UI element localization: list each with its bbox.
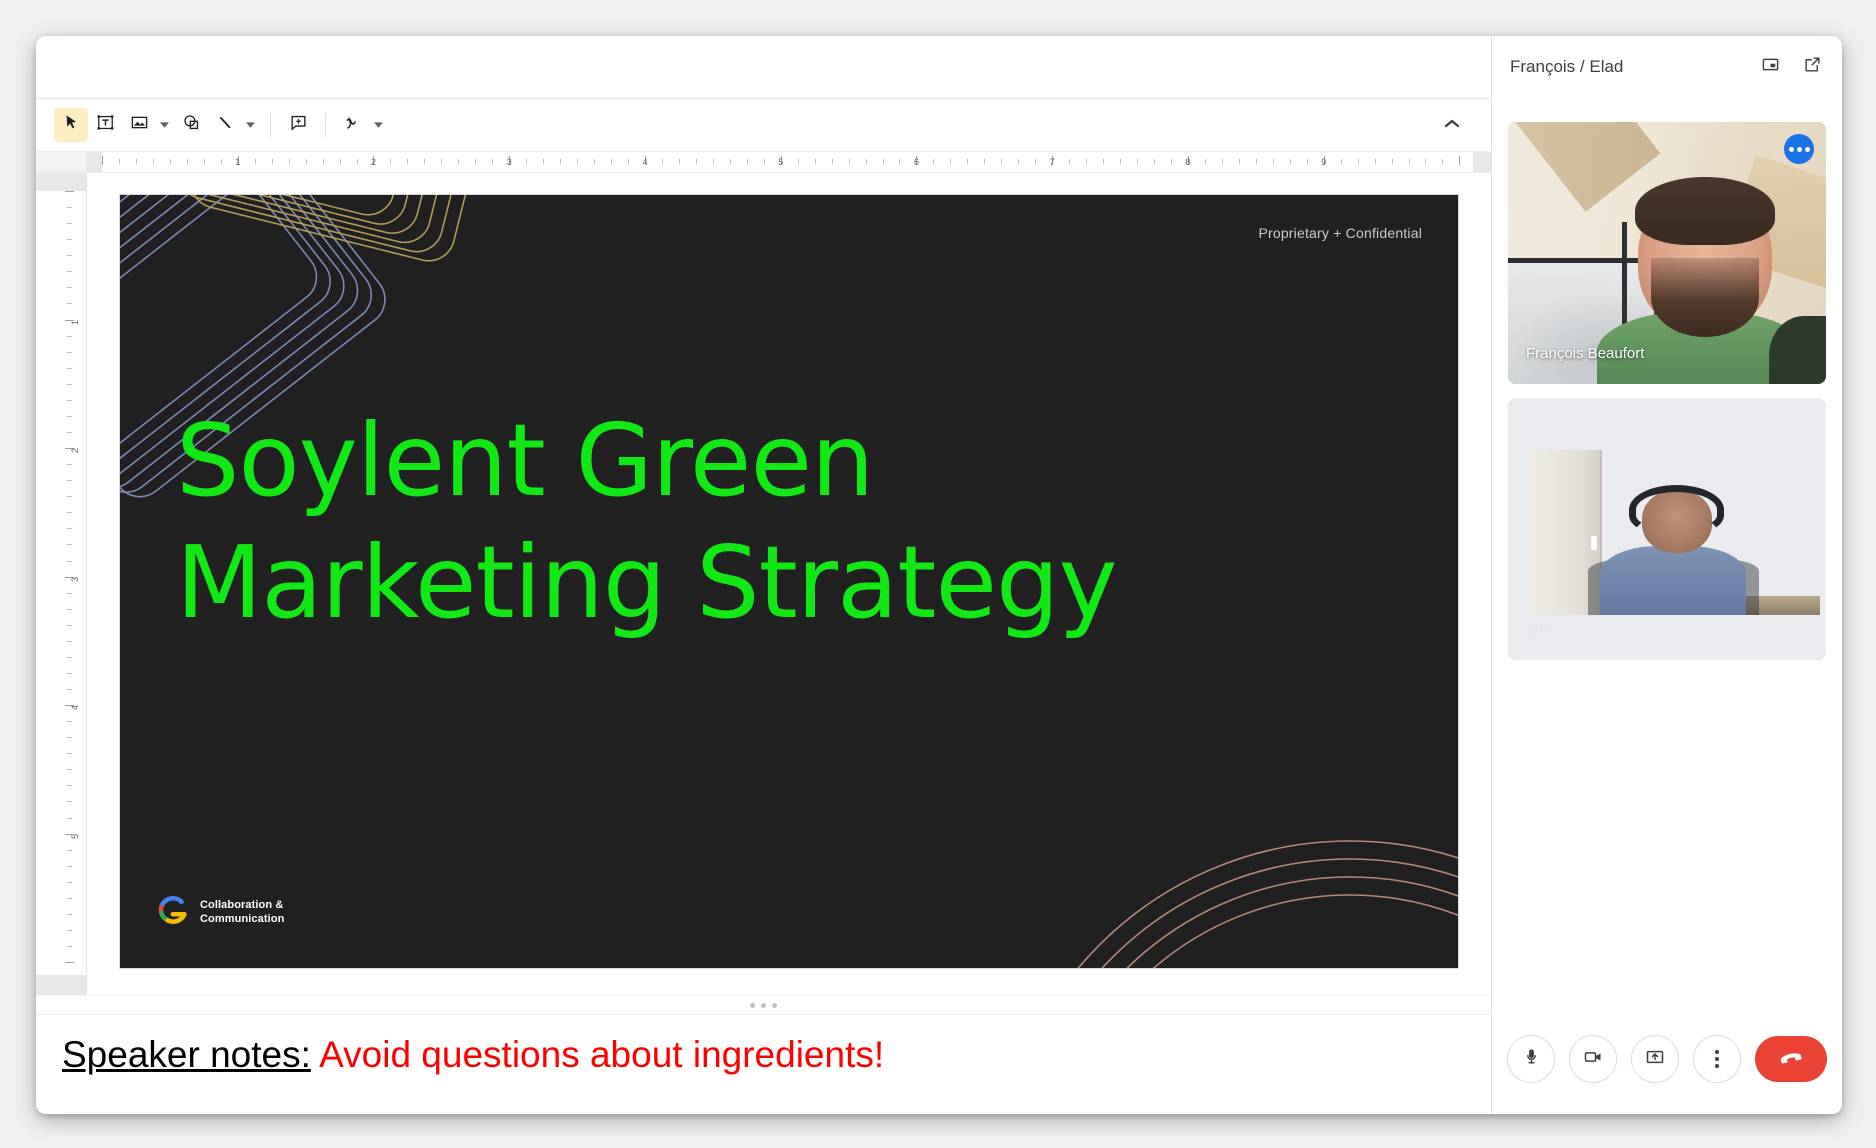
splitter-dot [761,1003,766,1008]
canvas-row: 12345 [36,173,1491,995]
ruler-tick [67,223,72,224]
ruler-tick [67,544,72,545]
collaboration-communication-logo-icon [156,893,190,932]
ruler-tick [577,159,578,164]
ruler-tick [1442,159,1443,164]
image-icon [130,113,149,137]
ruler-label: 3 [70,577,80,582]
ruler-tick [67,287,72,288]
ruler-tick [1103,159,1104,164]
ruler-tick [65,191,74,192]
ruler-tick [204,159,205,164]
ruler-tick [543,159,544,164]
participant-video-you [1508,398,1826,660]
ruler-label: 1 [235,155,240,169]
ruler-label: 6 [914,155,919,169]
ruler-tick [1035,159,1036,164]
speaker-notes-label: Speaker notes: [62,1034,311,1075]
ruler-tick [475,159,476,164]
ruler-tick [1154,159,1155,164]
ruler-tick [526,159,527,164]
ink-pen-button[interactable] [336,108,370,142]
ruler-tick [950,159,951,164]
insert-image-button[interactable] [122,108,156,142]
ruler-tick [67,673,72,674]
ruler-tick [1171,159,1172,164]
ruler-tick [67,625,72,626]
participant-tile-you[interactable]: You [1508,398,1826,660]
ruler-tick [1290,159,1291,164]
ruler-tick [272,159,273,164]
picture-in-picture-icon [1761,55,1780,79]
shape-button[interactable] [174,108,208,142]
ruler-tick [662,159,663,164]
text-box-button[interactable] [88,108,122,142]
ruler-label: 4 [70,705,80,710]
slide-title[interactable]: Soylent Green Marketing Strategy [176,400,1176,644]
ruler-tick [67,255,72,256]
ruler-tick [67,882,72,883]
editor-top-bar-area [36,36,1491,99]
ruler-tick [1256,159,1257,164]
ruler-tick [764,159,765,164]
ruler-label: 9 [1321,155,1326,169]
ruler-tick [136,159,137,164]
ruler-tick [899,159,900,164]
ruler-tick [1358,159,1359,164]
slide[interactable]: Proprietary + Confidential Soylent Green… [120,195,1458,968]
ruler-tick [492,159,493,164]
ruler-tick [730,159,731,164]
ruler-tick [696,159,697,164]
ruler-tick [883,159,884,164]
meet-side-panel: François / Elad [1491,36,1842,1114]
microphone-icon [1522,1047,1541,1071]
ruler-tick [306,159,307,164]
ruler-tick [628,159,629,164]
participant-name-francois: François Beaufort [1526,345,1644,362]
ruler-tick [67,239,72,240]
ruler-label: 7 [1050,155,1055,169]
splitter-dot [772,1003,777,1008]
ruler-tick [832,159,833,164]
ruler-tick [67,609,72,610]
ruler-tick [815,159,816,164]
speaker-notes-text[interactable]: Avoid questions about ingredients! [319,1034,884,1075]
ruler-tick [424,159,425,164]
ruler-tick [1137,159,1138,164]
ruler-tick [1425,159,1426,164]
ruler-tick [1239,159,1240,164]
ruler-tick [866,159,867,164]
ruler-tick [170,159,171,164]
ruler-label: 5 [778,155,783,169]
tile-more-options-button[interactable] [1784,134,1814,164]
ruler-tick [1273,159,1274,164]
insert-image-dropdown[interactable] [156,108,172,142]
ruler-tick [67,689,72,690]
ruler-tick [1222,159,1223,164]
ruler-tick [1409,159,1410,164]
ruler-tick [221,159,222,164]
pen-icon [343,113,363,138]
meet-participant-tiles: François Beaufort You [1492,98,1842,1010]
ruler-margin-left [88,152,102,172]
ruler-tick [67,400,72,401]
participant-tile-francois[interactable]: François Beaufort [1508,122,1826,384]
horizontal-ruler-track: 123456789 [87,152,1491,172]
ruler-tick [67,641,72,642]
ruler-tick [1069,159,1070,164]
ruler-tick [67,352,72,353]
toolbar-divider-1 [270,113,271,137]
meet-panel-header: François / Elad [1492,36,1842,98]
ruler-margin-top [36,173,86,191]
ruler-tick [441,159,442,164]
ruler-tick [67,818,72,819]
toolbar-divider-2 [325,113,326,137]
ruler-tick [1392,159,1393,164]
ruler-tick [560,159,561,164]
vertical-ruler[interactable]: 12345 [36,173,87,995]
ruler-tick [67,271,72,272]
chevron-up-icon [1444,116,1460,134]
shape-icon [182,113,201,137]
ruler-tick [65,962,74,963]
ruler-tick [390,159,391,164]
slides-editor-pane: 123456789 12345 [36,36,1491,1114]
ruler-tick [594,159,595,164]
ruler-tick [67,512,72,513]
ruler-tick [67,528,72,529]
ruler-tick [67,930,72,931]
camera-button[interactable] [1569,1035,1617,1083]
ruler-tick [67,785,72,786]
more-options-button[interactable] [1693,1035,1741,1083]
ruler-tick [1001,159,1002,164]
meet-call-title: François / Elad [1510,57,1744,77]
ruler-tick [67,384,72,385]
ruler-tick [458,159,459,164]
open-in-new-window-button[interactable] [1796,51,1828,83]
ruler-tick [289,159,290,164]
ruler-label: 2 [70,448,80,453]
ink-pen-dropdown[interactable] [370,108,386,142]
splitter-dot [750,1003,755,1008]
ruler-tick [679,159,680,164]
line-dropdown[interactable] [242,108,258,142]
ruler-tick [967,159,968,164]
ruler-tick [102,156,103,165]
ruler-tick [798,159,799,164]
ruler-label: 5 [70,834,80,839]
ruler-tick [933,159,934,164]
ruler-tick [1086,159,1087,164]
open-in-new-icon [1803,55,1822,79]
end-call-icon [1777,1043,1805,1076]
ruler-tick [67,721,72,722]
ruler-tick [1459,156,1460,165]
ruler-tick [67,769,72,770]
application-window: 123456789 12345 [36,36,1842,1114]
ruler-label: 2 [371,155,376,169]
ruler-tick [747,159,748,164]
ruler-tick [67,416,72,417]
ruler-tick [1307,159,1308,164]
ruler-tick [611,159,612,164]
add-comment-icon [289,113,308,137]
ruler-margin-right [1473,152,1491,172]
video-camera-icon [1583,1047,1603,1072]
slides-toolbar [36,99,1491,151]
text-box-icon [96,113,115,137]
ruler-corner [36,152,87,172]
ruler-tick [67,753,72,754]
ruler-tick [357,159,358,164]
ruler-tick [984,159,985,164]
ruler-tick [187,159,188,164]
ruler-tick [67,737,72,738]
more-vertical-icon [1715,1050,1719,1068]
present-screen-icon [1645,1047,1665,1072]
meet-call-controls [1492,1010,1842,1114]
microphone-button[interactable] [1507,1035,1555,1083]
speaker-notes-area[interactable]: Speaker notes: Avoid questions about ing… [36,1014,1491,1114]
ruler-label: 4 [642,155,647,169]
ruler-tick [67,336,72,337]
ruler-tick [67,432,72,433]
add-comment-button[interactable] [281,108,315,142]
ruler-tick [67,946,72,947]
collapse-toolbar-button[interactable] [1437,110,1467,140]
notes-splitter-handle[interactable] [36,995,1491,1014]
ruler-tick [67,866,72,867]
ruler-tick [255,159,256,164]
line-button[interactable] [208,108,242,142]
ruler-tick [67,898,72,899]
ruler-tick [119,159,120,164]
yellow-nested-rects-bottom-right [120,195,535,266]
horizontal-ruler[interactable]: 123456789 [36,151,1491,173]
ruler-tick [1375,159,1376,164]
ruler-tick [67,593,72,594]
ruler-tick [1018,159,1019,164]
cursor-icon [63,114,80,136]
select-cursor-button[interactable] [54,108,88,142]
ruler-tick [67,801,72,802]
ruler-label: 8 [1185,155,1190,169]
slide-canvas-area[interactable]: Proprietary + Confidential Soylent Green… [87,173,1491,995]
ruler-tick [67,464,72,465]
participant-name-you: You [1526,621,1551,638]
present-screen-button[interactable] [1631,1035,1679,1083]
hang-up-button[interactable] [1755,1036,1827,1082]
ruler-tick [67,850,72,851]
ruler-tick [340,159,341,164]
ruler-tick [67,657,72,658]
confidential-label: Proprietary + Confidential [1258,225,1422,241]
ruler-tick [1205,159,1206,164]
ruler-margin-bottom [36,975,86,995]
ruler-tick [67,914,72,915]
pink-arcs-bottom-right [996,841,1458,968]
ruler-tick [67,480,72,481]
ruler-tick [713,159,714,164]
picture-in-picture-button[interactable] [1754,51,1786,83]
ruler-tick [153,159,154,164]
ruler-tick [67,368,72,369]
ruler-tick [67,561,72,562]
ruler-tick [407,159,408,164]
slide-logo-text: Collaboration & Communication [200,899,284,926]
ruler-tick [67,496,72,497]
ruler-tick [67,207,72,208]
ruler-label: 3 [507,155,512,169]
ruler-tick [1120,159,1121,164]
ruler-tick [67,303,72,304]
ruler-tick [323,159,324,164]
slide-logo: Collaboration & Communication [156,893,284,932]
ruler-tick [1341,159,1342,164]
ruler-label: 1 [70,320,80,325]
ruler-tick [849,159,850,164]
line-icon [216,113,235,137]
more-horizontal-icon [1789,147,1794,152]
